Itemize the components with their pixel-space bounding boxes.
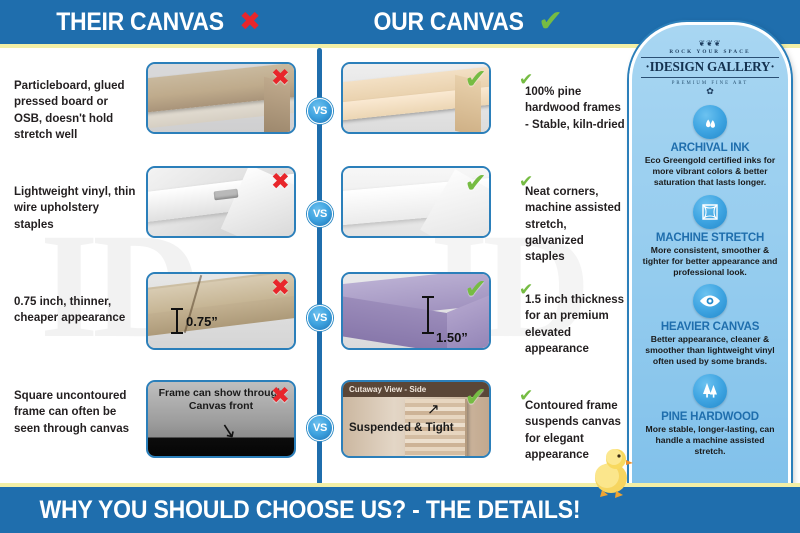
logo-tagline-bottom: PREMIUM FINE ART <box>672 81 749 86</box>
water-drops-icon <box>693 105 727 139</box>
feature-title: MACHINE STRETCH <box>656 232 764 244</box>
feature-pine-hardwood: PINE HARDWOOD More stable, longer-lastin… <box>639 374 781 458</box>
row2-x-icon: ✖ <box>271 171 290 194</box>
up-arrow-icon: ↗ <box>427 402 440 417</box>
row4-check-icon: ✔ <box>464 384 487 411</box>
thin-particleboard-photo: 0.75” ✖ <box>146 272 296 350</box>
feature-heavier-canvas: HEAVIER CANVAS Better appearance, cleane… <box>639 284 781 368</box>
row3-right-dimension: 1.50” <box>436 330 468 345</box>
vinyl-staples-photo: ✖ <box>146 166 296 238</box>
row3-left-description: 0.75 inch, thinner, cheaper appearance <box>14 294 139 327</box>
brand-sidebar-panel: ❦❦❦ ROCK YOUR SPACE ·IDESIGN GALLERY· PR… <box>629 22 791 512</box>
vs-badge-2: VS <box>307 201 333 227</box>
row1-check-icon: ✔ <box>464 66 487 93</box>
logo-ornament-top-icon: ❦❦❦ <box>698 40 721 48</box>
particleboard-corner-photo: ✖ <box>146 62 296 134</box>
row1-right-description: 100% pine hardwood frames - Stable, kiln… <box>525 84 625 133</box>
frame-show-through-photo: Frame can show through Canvas front ↘ ✖ <box>146 380 296 458</box>
feature-description: Eco Greengold certified inks for more vi… <box>641 155 779 189</box>
logo-brand-name: ·IDESIGN GALLERY· <box>641 57 778 78</box>
feature-archival-ink: ARCHIVAL INK Eco Greengold certified ink… <box>639 105 781 189</box>
row4-left-overlay-line1: Frame can show through <box>159 387 284 399</box>
vs-badge-4: VS <box>307 415 333 441</box>
vs-badge-1: VS <box>307 98 333 124</box>
row3-check-icon: ✔ <box>464 276 487 303</box>
header-titles: THEIR CANVAS ✖ OUR CANVAS ✔ <box>0 0 620 44</box>
row1-left-description: Particleboard, glued pressed board or OS… <box>14 78 139 143</box>
row2-check-icon: ✔ <box>464 170 487 197</box>
row3-right-description: 1.5 inch thickness for an premium elevat… <box>525 292 625 357</box>
row4-left-description: Square uncontoured frame can often be se… <box>14 388 139 437</box>
header-their-canvas: THEIR CANVAS ✖ <box>0 8 310 37</box>
feature-title: ARCHIVAL INK <box>671 142 750 154</box>
eye-icon <box>693 284 727 318</box>
brand-logo: ❦❦❦ ROCK YOUR SPACE ·IDESIGN GALLERY· PR… <box>639 33 781 99</box>
their-canvas-title: THEIR CANVAS <box>56 8 223 37</box>
suspended-tight-label: Suspended & Tight <box>349 422 454 434</box>
down-arrow-icon: ↘ <box>218 418 239 441</box>
footer-bar: WHY YOU SHOULD CHOOSE US? - THE DETAILS! <box>0 487 800 533</box>
thick-canvas-photo: 1.50” ✔ <box>341 272 491 350</box>
row2-right-description: Neat corners, machine assisted stretch, … <box>525 184 625 266</box>
infographic-page: ID ID THEIR CANVAS ✖ OUR CANVAS ✔ VS VS … <box>0 0 800 533</box>
feature-title: PINE HARDWOOD <box>661 411 759 423</box>
row2-left-description: Lightweight vinyl, thin wire upholstery … <box>14 184 139 233</box>
feature-description: Better appearance, cleaner & smoother th… <box>641 334 779 368</box>
row4-left-overlay-line2: Canvas front <box>189 400 253 412</box>
vs-badge-3: VS <box>307 305 333 331</box>
feature-description: More consistent, smoother & tighter for … <box>641 245 779 279</box>
cutaway-side-view-photo: Cutaway View - Side ↗ Suspended & Tight … <box>341 380 491 458</box>
logo-ornament-bottom-icon: ✿ <box>706 87 714 96</box>
row3-left-dimension: 0.75” <box>186 314 218 329</box>
row1-x-icon: ✖ <box>271 67 290 90</box>
header-our-canvas: OUR CANVAS ✔ <box>310 7 620 37</box>
logo-tagline-top: ROCK YOUR SPACE <box>669 49 750 55</box>
neat-corner-photo: ✔ <box>341 166 491 238</box>
pine-trees-icon <box>693 374 727 408</box>
row3-x-icon: ✖ <box>271 277 290 300</box>
footer-headline: WHY YOU SHOULD CHOOSE US? - THE DETAILS! <box>40 496 581 525</box>
pine-frame-corner-photo: ✔ <box>341 62 491 134</box>
feature-title: HEAVIER CANVAS <box>661 321 759 333</box>
feature-machine-stretch: MACHINE STRETCH More consistent, smoothe… <box>639 195 781 279</box>
row4-x-icon: ✖ <box>271 385 290 408</box>
stretched-canvas-icon <box>693 195 727 229</box>
check-mark-icon: ✔ <box>538 7 563 37</box>
our-canvas-title: OUR CANVAS <box>373 8 523 37</box>
duckling-illustration <box>588 440 634 498</box>
x-mark-icon: ✖ <box>239 9 261 35</box>
feature-description: More stable, longer-lasting, can handle … <box>641 424 779 458</box>
